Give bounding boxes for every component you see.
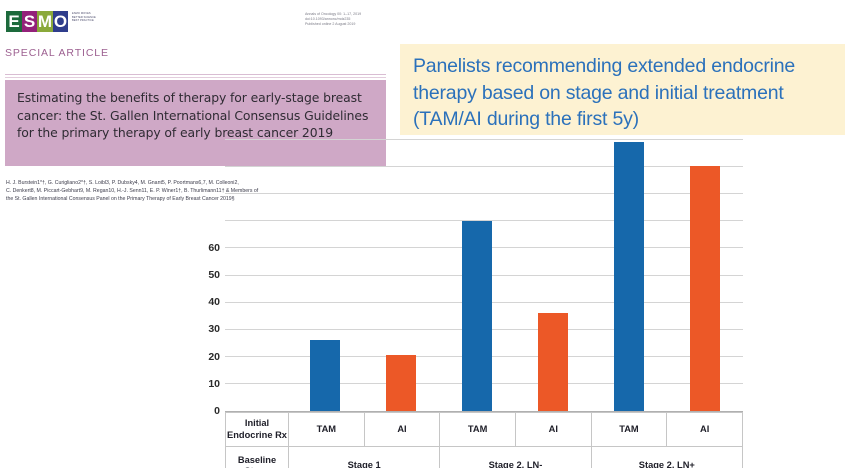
chart-bar bbox=[690, 166, 720, 411]
y-axis-tick-label: 0 bbox=[214, 405, 220, 417]
slide-title-banner: Panelists recommending extended endocrin… bbox=[400, 44, 845, 135]
axis-table-cell-tam-stage2-lnpos: TAM bbox=[591, 413, 667, 447]
bar-chart: 0102030405060 Initial Endocrine Rx TAM A… bbox=[196, 130, 845, 468]
journal-citation-block: Annals of Oncology 00: 1–17, 2019 doi:10… bbox=[305, 12, 395, 28]
journal-publication-date: Published online 2 August 2019 bbox=[305, 22, 395, 27]
chart-bar bbox=[614, 142, 644, 411]
esmo-logo-letter-m: M bbox=[37, 11, 53, 32]
axis-table-row-stage: Baseline Stage Stage 1 Stage 2, LN- Stag… bbox=[226, 447, 743, 468]
chart-gridline bbox=[225, 193, 743, 194]
axis-table-cell-stage-2-lnneg: Stage 2, LN- bbox=[440, 447, 591, 468]
y-axis-tick-label: 20 bbox=[208, 351, 220, 363]
chart-axis-table: Initial Endocrine Rx TAM AI TAM AI TAM A… bbox=[225, 412, 743, 468]
horizontal-rule-top bbox=[5, 74, 386, 75]
axis-table-header-baseline-stage: Baseline Stage bbox=[226, 447, 289, 468]
y-axis-tick-label: 30 bbox=[208, 323, 220, 335]
article-section-label: SPECIAL ARTICLE bbox=[5, 47, 109, 59]
esmo-logo-letter-e: E bbox=[6, 11, 22, 32]
axis-table-row-treatment: Initial Endocrine Rx TAM AI TAM AI TAM A… bbox=[226, 413, 743, 447]
slide-title-text: Panelists recommending extended endocrin… bbox=[413, 53, 835, 133]
axis-table-cell-tam-stage2-lnneg: TAM bbox=[440, 413, 516, 447]
chart-bar bbox=[310, 340, 340, 411]
axis-table-header-initial-endocrine-rx: Initial Endocrine Rx bbox=[226, 413, 289, 447]
axis-table-cell-ai-stage2-lnneg: AI bbox=[515, 413, 591, 447]
chart-gridline bbox=[225, 139, 743, 140]
chart-gridline bbox=[225, 166, 743, 167]
y-axis-tick-label: 60 bbox=[208, 242, 220, 254]
y-axis-tick-label: 10 bbox=[208, 378, 220, 390]
esmo-tagline-line-3: BEST PRACTICE bbox=[72, 19, 116, 23]
chart-plot-area: 0102030405060 bbox=[225, 139, 743, 411]
chart-bar bbox=[538, 313, 568, 411]
axis-table-cell-stage-1: Stage 1 bbox=[289, 447, 440, 468]
axis-table-cell-tam-stage1: TAM bbox=[289, 413, 365, 447]
horizontal-rule-bottom bbox=[5, 77, 386, 78]
axis-table-cell-stage-2-lnpos: Stage 2, LN+ bbox=[591, 447, 742, 468]
esmo-logo: E S M O bbox=[6, 11, 68, 32]
esmo-logo-letter-o: O bbox=[53, 11, 69, 32]
esmo-logo-letter-s: S bbox=[22, 11, 38, 32]
chart-bar bbox=[462, 221, 492, 411]
axis-table-cell-ai-stage2-lnpos: AI bbox=[667, 413, 743, 447]
y-axis-tick-label: 40 bbox=[208, 296, 220, 308]
chart-bar bbox=[386, 355, 416, 411]
axis-table-cell-ai-stage1: AI bbox=[364, 413, 440, 447]
y-axis-tick-label: 50 bbox=[208, 269, 220, 281]
esmo-logo-tagline: ESMO MOVES BETTER SCIENCE BEST PRACTICE bbox=[72, 12, 116, 23]
slide-canvas: E S M O ESMO MOVES BETTER SCIENCE BEST P… bbox=[0, 0, 845, 468]
